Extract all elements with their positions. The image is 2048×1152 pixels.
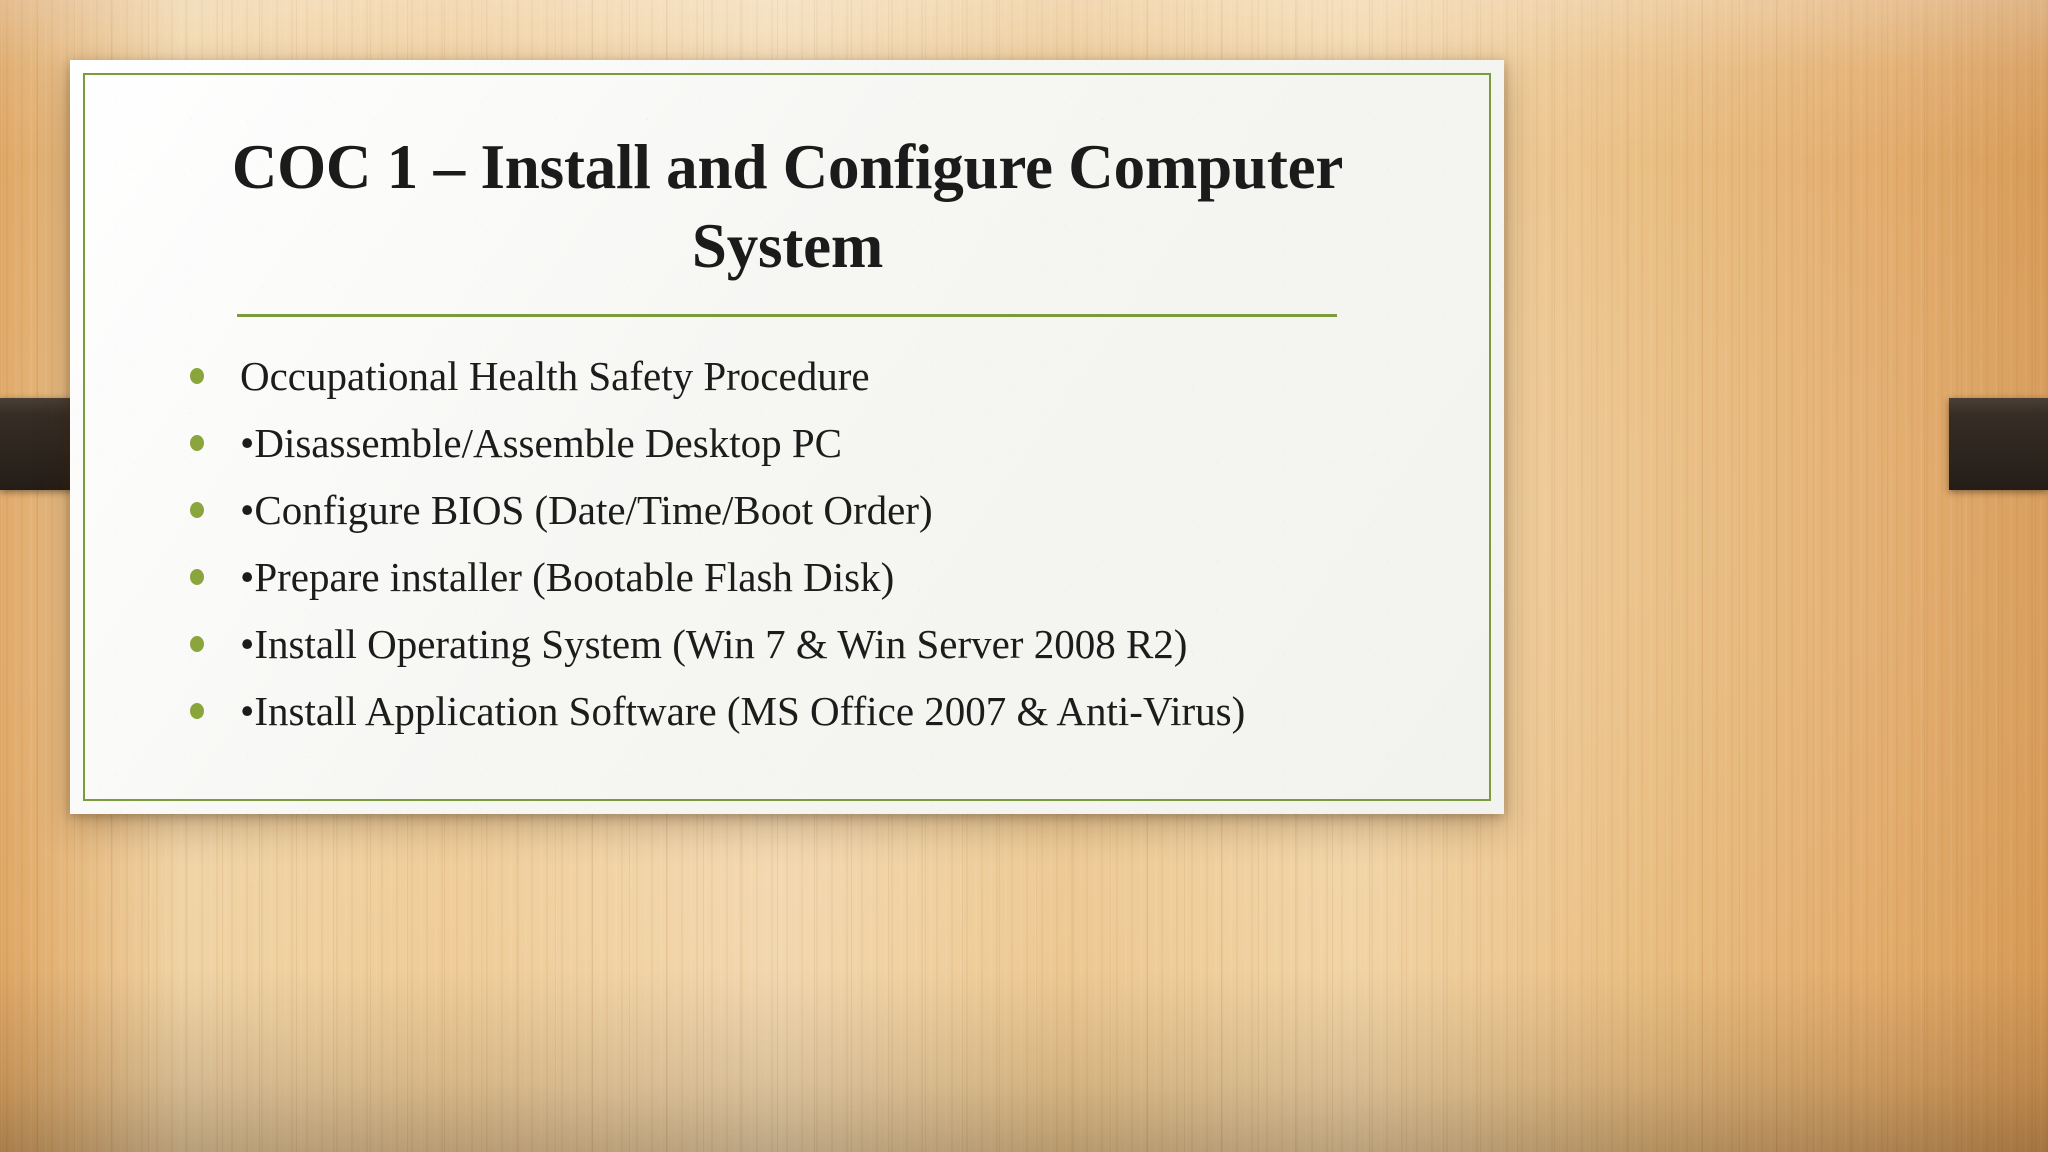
- bullet-dot-icon: [190, 368, 204, 384]
- bullet-list: Occupational Health Safety Procedure •Di…: [178, 348, 1418, 750]
- list-item-label: •Prepare installer (Bootable Flash Disk): [240, 552, 894, 602]
- title-divider-rule: [237, 314, 1337, 317]
- list-item: •Disassemble/Assemble Desktop PC: [178, 415, 1418, 471]
- bullet-dot-icon: [190, 569, 204, 585]
- list-item: •Install Application Software (MS Office…: [178, 683, 1418, 739]
- list-item-label: •Disassemble/Assemble Desktop PC: [240, 418, 842, 468]
- list-item-label: •Install Application Software (MS Office…: [240, 686, 1245, 736]
- bullet-dot-icon: [190, 502, 204, 518]
- list-item: •Prepare installer (Bootable Flash Disk): [178, 549, 1418, 605]
- slide-background: COC 1 – Install and Configure Computer S…: [0, 0, 2048, 1152]
- bullet-dot-icon: [190, 636, 204, 652]
- list-item-label: Occupational Health Safety Procedure: [240, 351, 870, 401]
- list-item: •Install Operating System (Win 7 & Win S…: [178, 616, 1418, 672]
- binder-tab-right: [1949, 398, 2048, 490]
- bullet-dot-icon: [190, 703, 204, 719]
- list-item-label: •Configure BIOS (Date/Time/Boot Order): [240, 485, 933, 535]
- slide-card: COC 1 – Install and Configure Computer S…: [70, 60, 1504, 814]
- bullet-dot-icon: [190, 435, 204, 451]
- title-block: COC 1 – Install and Configure Computer S…: [200, 128, 1375, 287]
- list-item: Occupational Health Safety Procedure: [178, 348, 1418, 404]
- list-item-label: •Install Operating System (Win 7 & Win S…: [240, 619, 1187, 669]
- page-title: COC 1 – Install and Configure Computer S…: [200, 128, 1375, 287]
- list-item: •Configure BIOS (Date/Time/Boot Order): [178, 482, 1418, 538]
